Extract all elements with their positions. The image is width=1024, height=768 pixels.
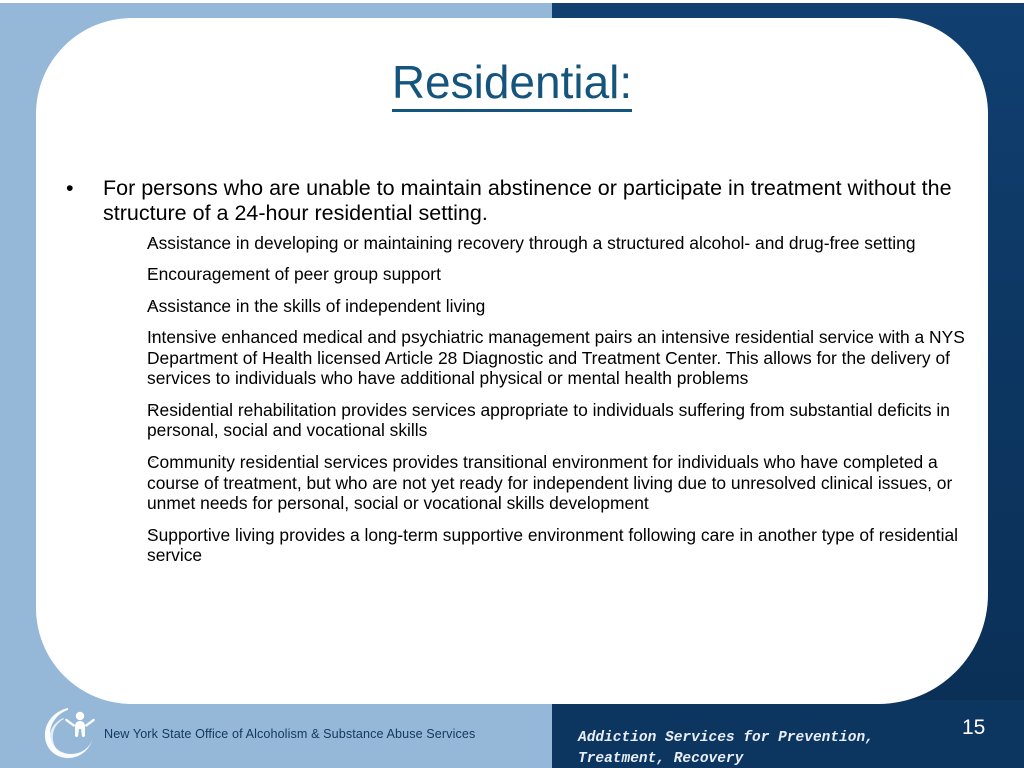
sub-bullet-marker-icon: ◦ [151,456,155,467]
sub-bullet-item: ◦ Residential rehabilitation provides se… [103,400,972,441]
sub-bullet-item: ◦ Community residential services provide… [103,452,972,514]
sub-bullet-marker-icon: ◦ [151,237,155,248]
sub-bullet-item: ◦ Supportive living provides a long-term… [103,525,972,566]
bullet-item: • For persons who are unable to maintain… [58,176,972,566]
slide-body: • For persons who are unable to maintain… [58,176,972,577]
sub-bullet-marker-icon: ◦ [151,404,155,415]
sub-bullet-marker-icon: ◦ [151,529,155,540]
sub-bullet-text: Intensive enhanced medical and psychiatr… [147,327,972,389]
slide-canvas: Residential: • For persons who are unabl… [0,0,1024,768]
sub-bullet-marker-icon: ◦ [151,268,155,279]
sub-bullet-marker-icon: ◦ [151,331,155,342]
sub-bullet-item: ◦ Intensive enhanced medical and psychia… [103,327,972,389]
slide-page-number: 15 [962,716,985,740]
sub-bullet-text: Supportive living provides a long-term s… [147,525,972,566]
sub-bullet-item: ◦ Encouragement of peer group support [103,264,972,285]
bullet-list-level1: • For persons who are unable to maintain… [58,176,972,566]
footer-tagline-line2: Treatment, Recovery [578,749,950,768]
footer-agency-name: New York State Office of Alcoholism & Su… [104,727,475,741]
footer-tagline: Addiction Services for Prevention, Treat… [578,728,950,768]
page-title-container: Residential: [36,58,988,112]
sub-bullet-text: Assistance in the skills of independent … [147,296,972,317]
sub-bullet-marker-icon: ◦ [151,300,155,311]
sub-bullet-container: ◦ Assistance in developing or maintainin… [103,233,972,566]
sub-bullet-text: Community residential services provides … [147,452,972,514]
bullet-marker-icon: • [66,176,74,201]
footer-tagline-line1: Addiction Services for Prevention, [578,728,950,749]
sub-bullet-text: Assistance in developing or maintaining … [147,233,972,254]
sub-bullet-item: ◦ Assistance in the skills of independen… [103,296,972,317]
bullet-list-level2: ◦ Assistance in developing or maintainin… [103,233,972,566]
page-title: Residential: [392,58,632,112]
bullet-text: For persons who are unable to maintain a… [103,176,952,225]
sub-bullet-text: Residential rehabilitation provides serv… [147,400,972,441]
top-white-strip [0,0,1024,3]
sub-bullet-item: ◦ Assistance in developing or maintainin… [103,233,972,254]
sub-bullet-text: Encouragement of peer group support [147,264,972,285]
oasas-figure-swoosh-logo-icon [38,702,110,764]
